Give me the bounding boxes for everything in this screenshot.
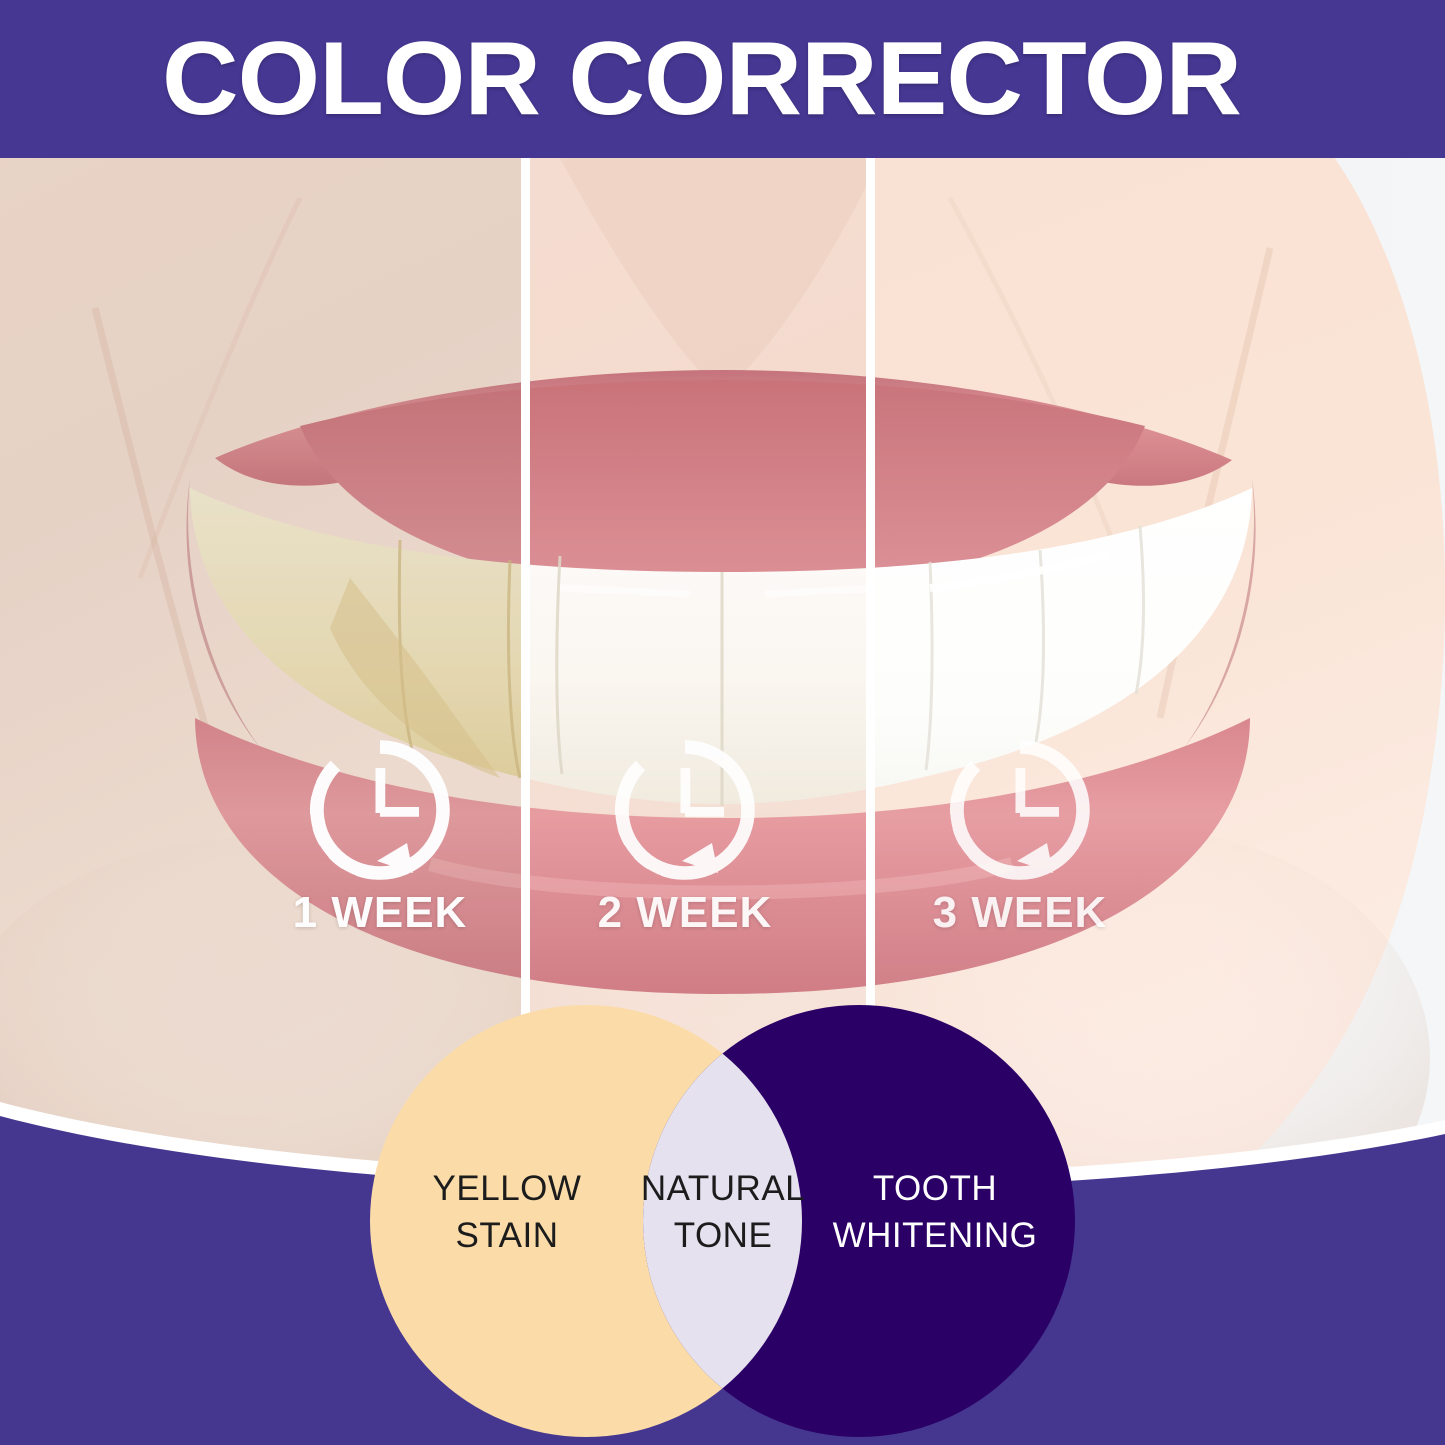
venn-label-left-line1: YELLOW — [433, 1169, 582, 1208]
venn-label-overlap-line2: TONE — [674, 1216, 773, 1255]
product-infographic: COLOR CORRECTOR — [0, 0, 1445, 1445]
venn-label-left-line2: STAIN — [456, 1216, 559, 1255]
venn-label-overlap-line1: NATURAL — [641, 1169, 805, 1208]
venn-diagram: YELLOW STAIN NATURAL TONE TOOTH WHITENIN… — [370, 995, 1075, 1445]
venn-label-right-line2: WHITENING — [833, 1216, 1038, 1255]
page-title: COLOR CORRECTOR — [162, 27, 1284, 131]
venn-label-right-line1: TOOTH — [873, 1169, 997, 1208]
header-banner: COLOR CORRECTOR — [0, 0, 1445, 158]
venn-svg: YELLOW STAIN NATURAL TONE TOOTH WHITENIN… — [370, 995, 1075, 1445]
